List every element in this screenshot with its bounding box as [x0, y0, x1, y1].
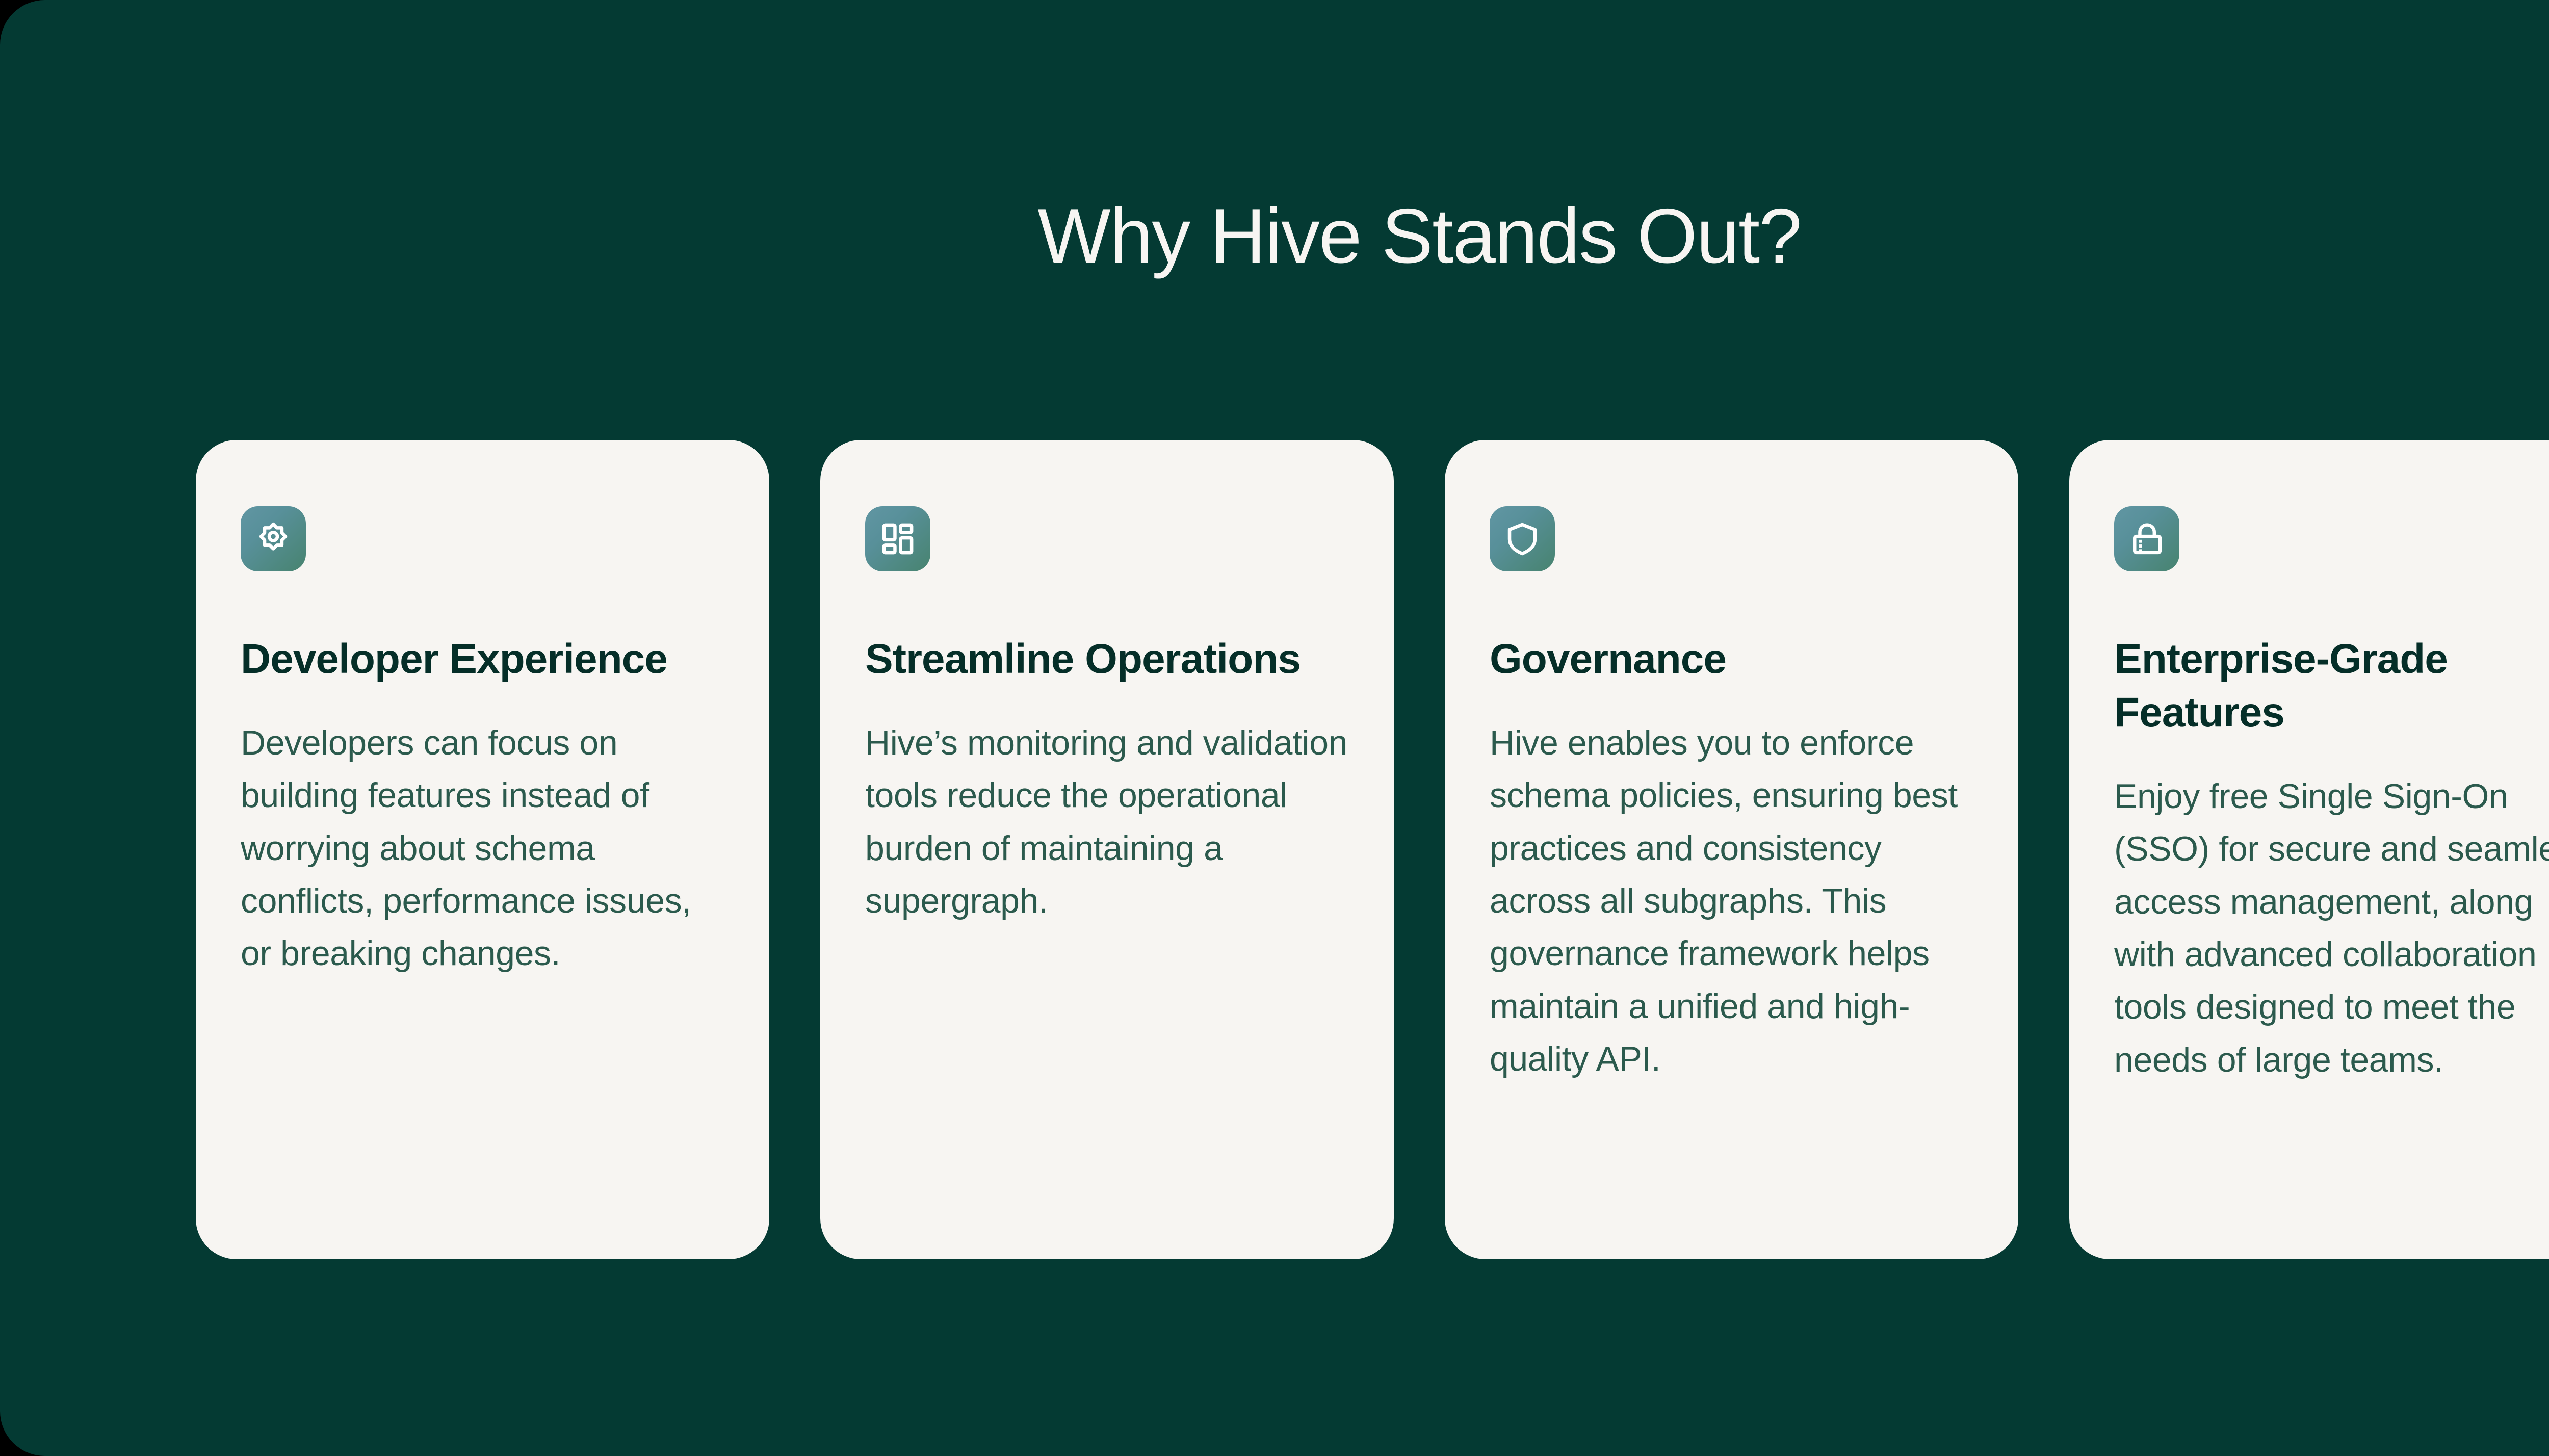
layout-dashboard-icon: [865, 506, 930, 571]
settings-star-icon: [241, 506, 306, 571]
feature-card-title: Streamline Operations: [865, 633, 1300, 686]
why-hive-section: Why Hive Stands Out? Developer Experienc…: [0, 0, 2549, 1456]
lock-icon: [2114, 506, 2179, 571]
feature-card-list: Developer Experience Developers can focu…: [196, 440, 2549, 1259]
feature-card-enterprise-grade-features[interactable]: Enterprise-Grade Features Enjoy free Sin…: [2069, 440, 2549, 1259]
feature-card-body: Developers can focus on building feature…: [241, 717, 724, 980]
page-title: Why Hive Stands Out?: [0, 194, 2549, 279]
feature-card-developer-experience[interactable]: Developer Experience Developers can focu…: [196, 440, 769, 1259]
feature-card-body: Enjoy free Single Sign-On (SSO) for secu…: [2114, 770, 2549, 1086]
feature-card-body: Hive’s monitoring and validation tools r…: [865, 717, 1349, 927]
feature-card-body: Hive enables you to enforce schema polic…: [1490, 717, 1973, 1086]
page-root: Why Hive Stands Out? Developer Experienc…: [0, 0, 2549, 1456]
feature-card-title: Enterprise-Grade Features: [2114, 633, 2549, 740]
feature-card-title: Governance: [1490, 633, 1726, 686]
feature-card-governance[interactable]: Governance Hive enables you to enforce s…: [1445, 440, 2018, 1259]
shield-icon: [1490, 506, 1555, 571]
feature-card-streamline-operations[interactable]: Streamline Operations Hive’s monitoring …: [820, 440, 1394, 1259]
feature-card-title: Developer Experience: [241, 633, 667, 686]
